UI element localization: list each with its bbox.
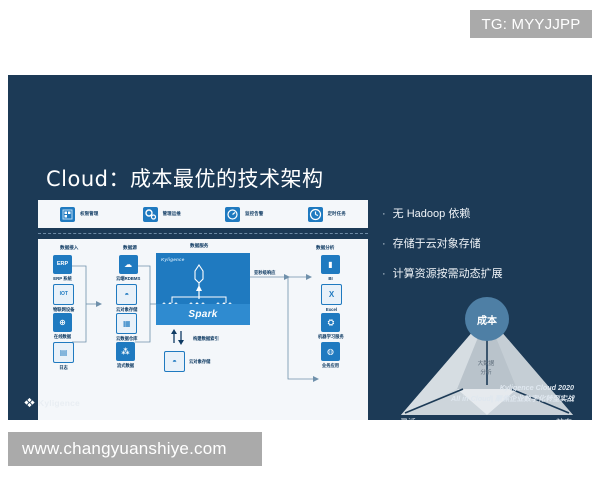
cost-label: 成本 [477, 312, 497, 327]
pipeline-node: ⁂ 流式数据 [116, 342, 135, 369]
watermark-bottom-text: www.changyuanshiye.com [22, 439, 227, 459]
bullet-dot-icon: · [382, 208, 386, 221]
iot-icon: IOT [53, 284, 74, 305]
bullet-text: 计算资源按需动态扩展 [393, 268, 503, 281]
ml-glyph: ⛭ [328, 319, 334, 327]
pipeline-node-label: 云端RDBMS [116, 276, 140, 282]
management-item: 权限管理 [38, 207, 121, 222]
management-item: 定时任务 [286, 207, 369, 222]
permissions-icon [60, 207, 75, 222]
stream-icon: ⁂ [116, 342, 135, 361]
object-storage-glyph: ◓ [172, 358, 177, 366]
ml-icon: ⛭ [321, 313, 340, 332]
kyligence-footer-text: Kyligence [38, 398, 80, 408]
pipeline-node-label: 流式数据 [117, 363, 134, 369]
management-item-label: 监控告警 [245, 211, 263, 217]
architecture-diagram: 权限管理 管理运维 监控告警 定时任务 [38, 200, 368, 420]
data-warehouse-glyph: ▦ [123, 320, 131, 328]
slide-canvas: Cloud：成本最优的技术架构 权限管理 管理运维 监控告警 [8, 75, 592, 420]
bullet-list: · 无 Hadoop 依赖 · 存储于云对象存储 · 计算资源按需动态扩展 [382, 208, 503, 298]
app-glyph: ◍ [327, 348, 334, 356]
object-storage-icon: ◓ [116, 284, 137, 305]
pipeline-node: IOT 物联网设备 [53, 284, 74, 313]
object-storage-icon: ◓ [164, 351, 185, 372]
kyligence-service-block: Kyligence [156, 253, 250, 325]
footer-line-1: Kyligence Cloud 2020 [451, 382, 574, 393]
management-item: 管理运维 [121, 207, 204, 222]
bullet-dot-icon: · [382, 238, 386, 251]
excel-glyph: X [329, 291, 334, 299]
bullet-text: 无 Hadoop 依赖 [393, 208, 471, 221]
response-time-label: 亚秒级响应 [254, 270, 275, 276]
column-head: 数据接入 [60, 245, 78, 251]
pipeline-panel: 数据接入 数据源 数据服务 数据分析 ERP ERP 系统 IOT 物联网设备 … [38, 239, 368, 420]
pipeline-node: ⛭ 机器学习服务 [318, 313, 344, 340]
footer-line-2: All in Cloud| 聚焦企业数字化转型实战 [451, 393, 574, 404]
pipeline-node: ▮ BI [321, 255, 340, 281]
iot-glyph: IOT [60, 292, 68, 297]
management-item-label: 定时任务 [328, 211, 346, 217]
erp-glyph: ERP [57, 262, 68, 268]
center-line-2: 分析 [454, 369, 518, 378]
pipeline-node: ◓ 云对象存储 [116, 284, 137, 313]
column-head: 数据分析 [316, 245, 334, 251]
index-label: 构建数据索引 [193, 336, 219, 342]
center-line-1: 大数据 [454, 360, 518, 369]
pipeline-node: ◓ 云对象存储 [164, 351, 210, 372]
list-item: · 计算资源按需动态扩展 [382, 268, 503, 281]
column-head: 数据服务 [190, 243, 208, 249]
triangle-right-label: 效率 [556, 417, 572, 420]
pipeline-node-label: ERP 系统 [53, 276, 72, 282]
data-warehouse-icon: ▦ [116, 313, 137, 334]
divider-top [38, 233, 368, 234]
management-item-label: 权限管理 [80, 211, 98, 217]
management-item-label: 管理运维 [163, 211, 181, 217]
gauge-icon [225, 207, 240, 222]
watermark-top: TG: MYYJJPP [470, 10, 592, 38]
kyligence-mark-icon [24, 397, 35, 408]
watermark-bottom: www.changyuanshiye.com [8, 432, 262, 466]
slide-footer-right: Kyligence Cloud 2020 All in Cloud| 聚焦企业数… [451, 382, 574, 404]
bullet-text: 存储于云对象存储 [393, 238, 481, 251]
pipeline-node: ERP ERP 系统 [53, 255, 72, 282]
stream-glyph: ⁂ [121, 348, 129, 356]
cost-badge: 成本 [465, 297, 509, 341]
pipeline-node: X Excel [321, 284, 342, 312]
management-bar: 权限管理 管理运维 监控告警 定时任务 [38, 200, 368, 228]
page-title: Cloud：成本最优的技术架构 [46, 163, 324, 193]
log-icon: ▤ [53, 342, 74, 363]
pipeline-node: ▦ 云数据仓库 [116, 313, 137, 342]
pipeline-node: ▤ 日志 [53, 342, 74, 371]
spark-label: Spark [188, 309, 217, 320]
column-head: 数据源 [123, 245, 137, 251]
pipeline-node: ◍ 业务应用 [321, 342, 340, 369]
pipeline-node-label: 日志 [59, 365, 68, 371]
management-item: 监控告警 [203, 207, 286, 222]
pipeline-node: ⊕ 在线数据 [53, 313, 72, 340]
spark-engine: Spark [156, 304, 250, 325]
globe-icon: ⊕ [53, 313, 72, 332]
app-icon: ◍ [321, 342, 340, 361]
cloud-db-icon: ☁ [119, 255, 138, 274]
pipeline-node: ☁ 云端RDBMS [116, 255, 140, 282]
list-item: · 存储于云对象存储 [382, 238, 503, 251]
globe-glyph: ⊕ [59, 319, 66, 327]
clock-icon [308, 207, 323, 222]
bullet-dot-icon: · [382, 268, 386, 281]
list-item: · 无 Hadoop 依赖 [382, 208, 503, 221]
cloud-db-glyph: ☁ [124, 261, 132, 269]
excel-icon: X [321, 284, 342, 305]
pipeline-node-label: BI [328, 276, 332, 281]
pipeline-node-label: 在线数据 [54, 334, 71, 340]
watermark-top-text: TG: MYYJJPP [482, 16, 581, 33]
log-glyph: ▤ [60, 349, 68, 357]
bi-glyph: ▮ [328, 261, 332, 269]
pipeline-node-label: Excel [326, 307, 337, 312]
triangle-left-label: 灵活 [400, 417, 416, 420]
erp-icon: ERP [53, 255, 72, 274]
pipeline-node-label: 业务应用 [322, 363, 339, 369]
pipeline-node-label: 机器学习服务 [318, 334, 344, 340]
triangle-center-label: 大数据 分析 [454, 360, 518, 378]
kyligence-footer-logo: Kyligence [24, 397, 80, 408]
pipeline-node-label: 云对象存储 [189, 359, 210, 365]
gears-icon [143, 207, 158, 222]
bi-chart-icon: ▮ [321, 255, 340, 274]
object-storage-glyph: ◓ [124, 291, 129, 299]
